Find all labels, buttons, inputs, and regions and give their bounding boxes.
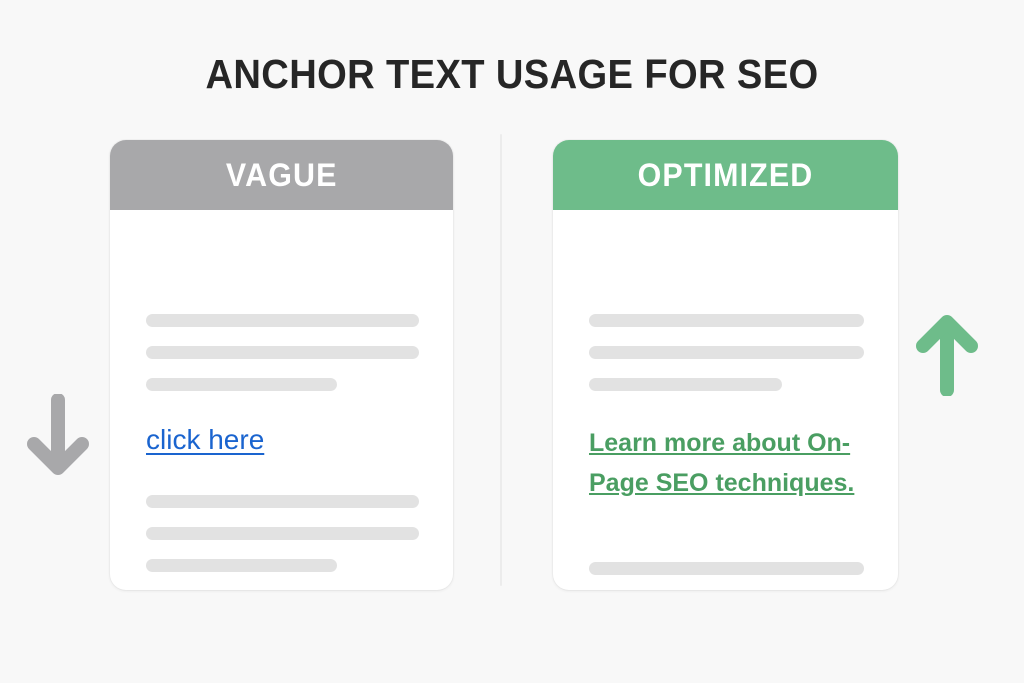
skeleton-bar xyxy=(589,378,782,391)
card-optimized-body: Learn more about On-Page SEO techniques. xyxy=(553,210,898,590)
card-optimized: OPTIMIZED Learn more about On-Page SEO t… xyxy=(553,140,898,590)
skeleton-bar xyxy=(589,562,864,575)
infographic-canvas: ANCHOR TEXT USAGE FOR SEO VAGUE click he… xyxy=(0,0,1024,683)
arrow-down-icon xyxy=(26,394,90,483)
card-vague-header: VAGUE xyxy=(110,140,453,210)
skeleton-bar xyxy=(146,346,419,359)
arrow-up-icon xyxy=(915,312,979,401)
skeleton-bar xyxy=(146,495,419,508)
vertical-divider xyxy=(500,134,502,586)
card-optimized-header: OPTIMIZED xyxy=(553,140,898,210)
anchor-link-optimized[interactable]: Learn more about On-Page SEO techniques. xyxy=(589,423,859,503)
skeleton-bar xyxy=(146,378,337,391)
page-title: ANCHOR TEXT USAGE FOR SEO xyxy=(36,50,988,98)
skeleton-bars-bottom-vague xyxy=(146,495,419,590)
card-vague-body: click here xyxy=(110,210,453,590)
skeleton-bars-bottom-optimized xyxy=(589,562,864,590)
card-vague-header-label: VAGUE xyxy=(226,158,338,192)
anchor-link-vague[interactable]: click here xyxy=(146,423,264,457)
card-optimized-header-label: OPTIMIZED xyxy=(638,158,814,192)
skeleton-bar xyxy=(589,346,864,359)
card-vague: VAGUE click here xyxy=(110,140,453,590)
skeleton-bar xyxy=(589,314,864,327)
skeleton-bars-top-optimized xyxy=(589,314,864,391)
skeleton-bar xyxy=(146,559,337,572)
skeleton-bar xyxy=(146,314,419,327)
skeleton-bar xyxy=(146,527,419,540)
skeleton-bars-top-vague xyxy=(146,314,419,391)
